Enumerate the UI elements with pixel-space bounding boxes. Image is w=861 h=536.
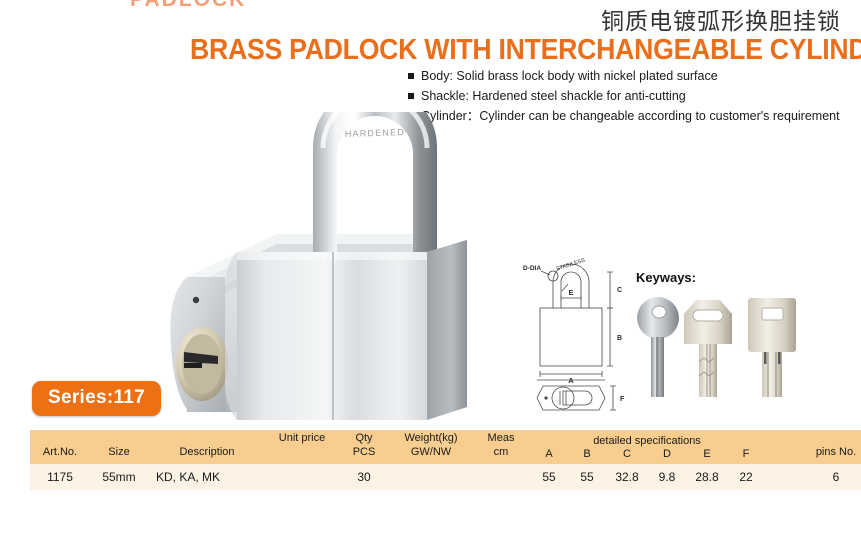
group-header-label: detailed specifications [530, 434, 764, 448]
square-bullet-icon [408, 73, 414, 79]
col-header-top: Weight(kg) [390, 432, 472, 446]
col-header-b: B [568, 448, 606, 460]
cell-d: 9.8 [648, 464, 686, 490]
label-b: B [617, 335, 622, 342]
col-header-bottom: pins No. [806, 446, 861, 460]
padlock-shackle: HARDENED [313, 112, 437, 252]
col-header-bottom: Art.No. [30, 446, 90, 460]
col-header-unit-price: Unit price [266, 430, 338, 464]
col-header-d: D [648, 448, 686, 460]
label-d-dia: D-DIA [523, 265, 541, 272]
chinese-product-title: 铜质电镀弧形换胆挂锁 [601, 2, 841, 36]
company-logo: PADLOCK [130, 0, 260, 8]
col-header-bottom [266, 446, 338, 460]
keyways-section: Keyways: [636, 270, 806, 400]
col-header-size: Size [90, 430, 148, 464]
col-header-top [148, 432, 266, 446]
cell-art-no: 1175 [30, 464, 90, 490]
col-header-top: Meas [472, 432, 530, 446]
col-header-bottom [764, 446, 806, 460]
col-header-top [90, 432, 148, 446]
label-a: A [568, 376, 574, 385]
list-item: Body: Solid brass lock body with nickel … [408, 68, 858, 84]
cell-size: 55mm [90, 464, 148, 490]
specifications-table: Art.No. Size Description [30, 430, 861, 490]
col-header-top [806, 432, 861, 446]
product-photo: HARDENED [165, 112, 510, 422]
list-item: Shackle: Hardened steel shackle for anti… [408, 88, 858, 104]
cell-b: 55 [568, 464, 606, 490]
technical-drawing: D-DIA STAINLESS C B A E F [505, 250, 645, 415]
cell-meas [472, 464, 530, 490]
series-badge: Series:117 [32, 381, 161, 416]
col-header-f: F [728, 448, 764, 460]
feature-text: Shackle: Hardened steel shackle for anti… [421, 88, 686, 104]
col-header-blank [764, 430, 806, 464]
label-c: C [617, 287, 622, 294]
table-row: 1175 55mm KD, KA, MK 30 55 55 32.8 9.8 2… [30, 464, 861, 490]
keyways-title: Keyways: [636, 270, 696, 285]
label-stainless: STAINLESS [556, 257, 587, 272]
cell-f: 22 [728, 464, 764, 490]
label-f: F [620, 396, 625, 403]
page-title: BRASS PADLOCK WITH INTERCHANGEABLE CYLIN… [190, 34, 861, 67]
col-header-bottom: PCS [338, 446, 390, 460]
product-catalog-page: PADLOCK 铜质电镀弧形换胆挂锁 BRASS PADLOCK WITH IN… [0, 0, 861, 536]
cell-c: 32.8 [606, 464, 648, 490]
label-e: E [568, 288, 573, 297]
cell-pins-no: 6 [806, 464, 861, 490]
col-header-pins-no: pins No. [806, 430, 861, 464]
feature-text: Body: Solid brass lock body with nickel … [421, 68, 718, 84]
cell-weight [390, 464, 472, 490]
col-header-weight: Weight(kg) GW/NW [390, 430, 472, 464]
cell-a: 55 [530, 464, 568, 490]
col-header-bottom: cm [472, 446, 530, 460]
col-header-bottom: Description [148, 446, 266, 460]
shackle-embossing-text: HARDENED [345, 127, 405, 139]
col-header-top [764, 432, 806, 446]
front-padlock-body [225, 240, 467, 420]
col-header-top: Qty [338, 432, 390, 446]
col-header-bottom: Size [90, 446, 148, 460]
key-octagon-head [684, 300, 732, 397]
col-header-detailed-specifications: detailed specifications A B C D E F [530, 430, 764, 464]
col-header-top: Unit price [266, 432, 338, 446]
square-bullet-icon [408, 93, 414, 99]
col-header-a: A [530, 448, 568, 460]
cell-e: 28.8 [686, 464, 728, 490]
col-header-meas: Meas cm [472, 430, 530, 464]
cell-blank [764, 464, 806, 490]
col-header-top [30, 432, 90, 446]
key-round-head [637, 297, 679, 397]
key-rectangle-head [748, 298, 796, 397]
col-header-art-no: Art.No. [30, 430, 90, 464]
col-header-description: Description [148, 430, 266, 464]
col-header-e: E [686, 448, 728, 460]
col-header-bottom: GW/NW [390, 446, 472, 460]
cell-description: KD, KA, MK [148, 464, 266, 490]
col-header-qty: Qty PCS [338, 430, 390, 464]
cell-unit-price [266, 464, 338, 490]
col-header-c: C [606, 448, 648, 460]
table-header-row: Art.No. Size Description [30, 430, 861, 464]
cell-qty: 30 [338, 464, 390, 490]
